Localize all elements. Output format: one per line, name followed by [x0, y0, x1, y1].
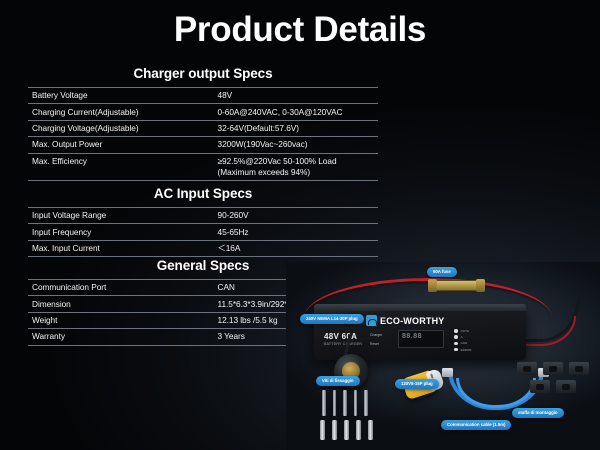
bracket-icon: [569, 362, 589, 375]
spec-key: Charging Current(Adjustable): [28, 104, 214, 120]
brand-name: ECO-WORTHY: [380, 316, 445, 326]
panel-label-reset: Reset: [370, 342, 379, 346]
led-label: CHG: [461, 341, 468, 345]
spec-value: 0-60A@240VAC, 0-30A@120VAC: [214, 104, 379, 120]
led-row: ERROR: [454, 348, 471, 352]
led-label: OUTH: [461, 329, 470, 333]
mounting-screws: [322, 390, 368, 416]
table-row: Input Frequency 45-65Hz: [28, 224, 378, 240]
fuse-cap-right: [476, 279, 485, 292]
led-row: CHG: [454, 341, 471, 345]
charger-lcd-display: 88.88: [398, 330, 444, 348]
lcd-value: 88.88: [402, 333, 422, 340]
table-row: Charging Voltage(Adjustable) 32-64V(Defa…: [28, 120, 378, 136]
spec-value: 3200W(190Vac~260vac): [214, 137, 379, 153]
callout-brackets: staffa di montaggio: [512, 408, 564, 418]
spec-value-line-2: (Maximum exceeds 94%): [218, 167, 379, 178]
spec-key: Warranty: [28, 329, 214, 345]
spec-value: 45-65Hz: [214, 224, 379, 240]
status-led-icon: [454, 335, 458, 339]
led-row: OUTH: [454, 329, 471, 333]
spec-block-ac-input: AC Input Specs Input Voltage Range 90-26…: [28, 186, 378, 257]
screw-icon: [322, 390, 326, 416]
eco-worthy-mark-icon: [366, 315, 377, 326]
spec-table-ac-input: Input Voltage Range 90-260V Input Freque…: [28, 207, 378, 257]
callout-nema-plug: 240V NEMA L14-30P plug: [300, 314, 364, 324]
panel-label-charger: Charger: [370, 333, 382, 337]
spec-block-charger-output: Charger output Specs Battery Voltage 48V…: [28, 66, 378, 181]
spec-key: Input Frequency: [28, 224, 214, 240]
section-heading-ac-input: AC Input Specs: [28, 186, 378, 207]
section-heading-charger-output: Charger output Specs: [28, 66, 378, 87]
status-led-group: OUTH A CHG ERROR: [454, 329, 471, 354]
table-row: Max. Output Power 3200W(190Vac~260vac): [28, 137, 378, 153]
table-row: Max. Input Current ＜16A: [28, 240, 378, 256]
screw-icon: [364, 390, 368, 416]
spec-key: Max. Output Power: [28, 137, 214, 153]
spec-value-line-1: ≥92.5%@220Vac 50-100% Load: [218, 156, 379, 167]
status-led-icon: [454, 342, 458, 346]
anchor-icon: [344, 420, 349, 440]
callout-comm-cable: Communication cable (1.5m): [441, 420, 511, 430]
spec-key: Dimension: [28, 296, 214, 312]
charger-rating: 48V 60A: [324, 332, 357, 341]
callout-120v-plug: 120V5-15P plug: [395, 379, 439, 389]
callout-fuse: 60A fuse: [427, 267, 457, 277]
led-label: A: [461, 335, 463, 339]
screw-icon: [333, 390, 337, 416]
spec-value: 48V: [214, 88, 379, 104]
spec-key: Communication Port: [28, 280, 214, 296]
spec-table-charger-output: Battery Voltage 48V Charging Current(Adj…: [28, 87, 378, 181]
brand-logo: ECO-WORTHY: [366, 315, 445, 326]
status-led-icon: [454, 329, 458, 333]
fuse-cap-left: [428, 279, 437, 292]
product-details-page: Product Details Charger output Specs Bat…: [0, 0, 600, 450]
table-row: Battery Voltage 48V: [28, 88, 378, 104]
led-label: ERROR: [461, 348, 472, 352]
spec-key: Input Voltage Range: [28, 208, 214, 224]
product-photo: ECO-WORTHY 48V 60A BATTERY CHARGER Charg…: [286, 262, 600, 450]
bracket-icon: [530, 380, 550, 393]
table-row: Max. Efficiency ≥92.5%@220Vac 50-100% Lo…: [28, 153, 378, 180]
callout-screws: Viti di fissaggio: [316, 376, 360, 386]
anchor-icon: [320, 420, 325, 440]
charger-rating-subtitle: BATTERY CHARGER: [324, 342, 362, 346]
spec-key: Max. Efficiency: [28, 153, 214, 180]
spec-key: Weight: [28, 312, 214, 328]
fuse-body: [432, 280, 478, 291]
screw-icon: [354, 390, 358, 416]
spec-value: 32-64V(Default:57.6V): [214, 120, 379, 136]
status-led-icon: [454, 348, 458, 352]
led-row: A: [454, 335, 471, 339]
table-row: Charging Current(Adjustable) 0-60A@240VA…: [28, 104, 378, 120]
spec-value: 90-260V: [214, 208, 379, 224]
page-title: Product Details: [0, 8, 600, 52]
bracket-icon: [543, 362, 563, 375]
bracket-icon: [556, 380, 576, 393]
rj45-connector-left: [442, 368, 453, 377]
spec-key: Max. Input Current: [28, 240, 214, 256]
spec-value-multiline: ≥92.5%@220Vac 50-100% Load (Maximum exce…: [214, 153, 379, 180]
bracket-icon: [517, 362, 537, 375]
spec-value: ＜16A: [214, 240, 379, 256]
anchor-icon: [332, 420, 337, 440]
spec-key: Charging Voltage(Adjustable): [28, 120, 214, 136]
charger-top-edge: [314, 304, 526, 311]
anchor-icon: [356, 420, 361, 440]
screw-icon: [343, 390, 347, 416]
table-row: Input Voltage Range 90-260V: [28, 208, 378, 224]
mounting-brackets: [514, 362, 592, 393]
wall-anchors: [320, 420, 373, 440]
anchor-icon: [368, 420, 373, 440]
spec-key: Battery Voltage: [28, 88, 214, 104]
